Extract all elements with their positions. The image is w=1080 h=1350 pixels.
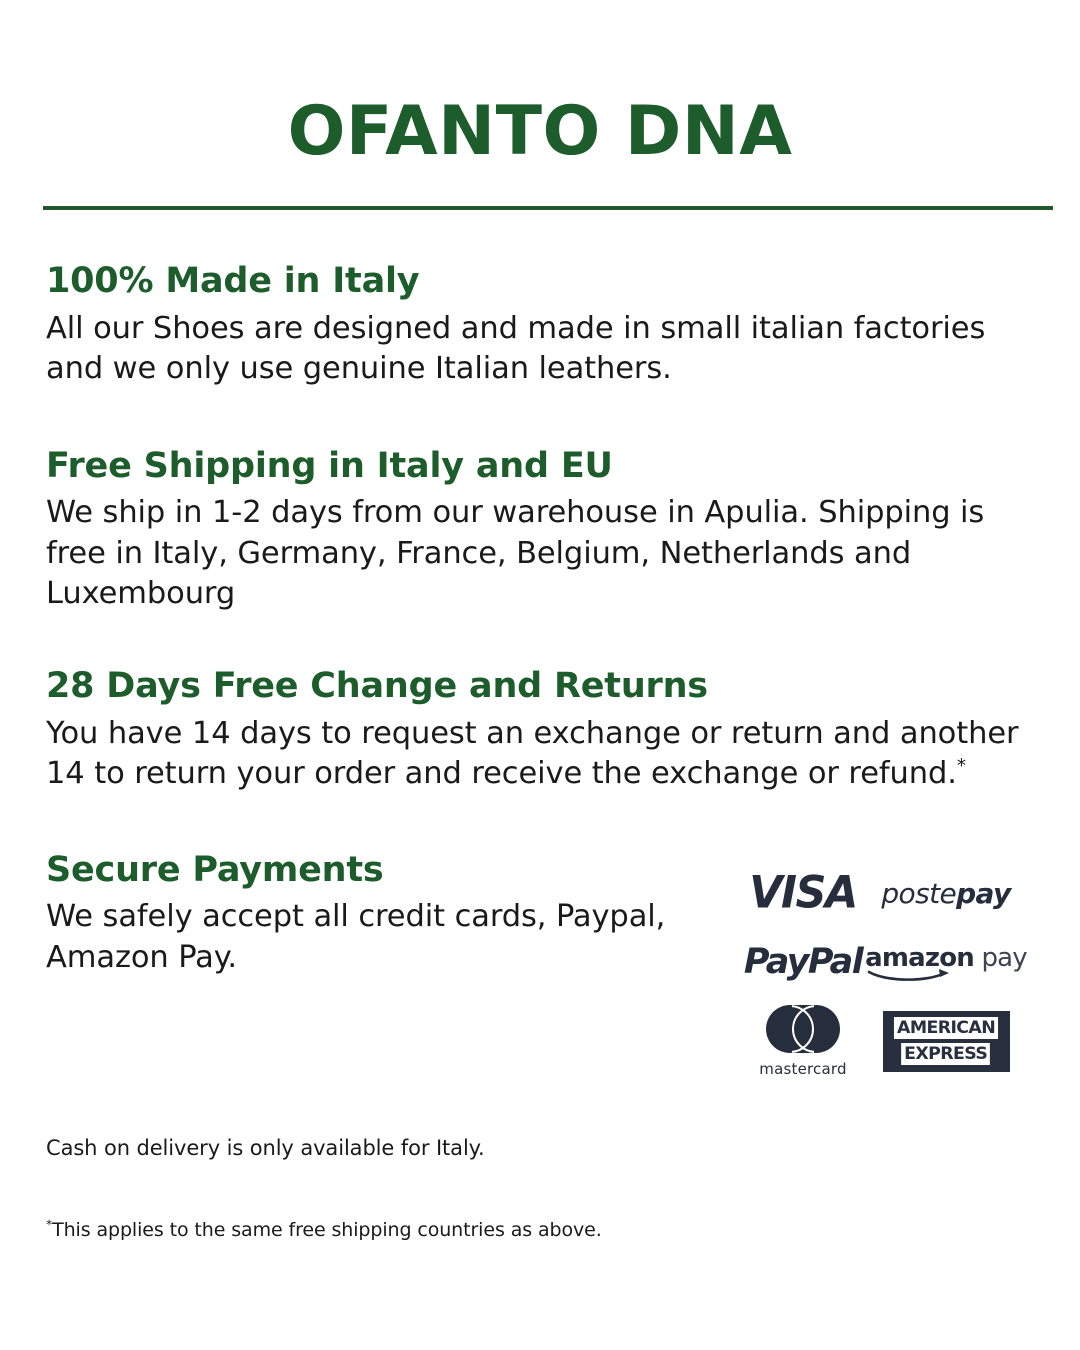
postepay-icon: postepay <box>881 877 1010 910</box>
footnote-wrap: *This applies to the same free shipping … <box>0 1218 1080 1243</box>
footnote: *This applies to the same free shipping … <box>0 1218 1080 1243</box>
mastercard-wordmark: mastercard <box>759 1060 846 1078</box>
mastercard-overlap <box>792 1005 814 1053</box>
section-free-shipping: Free Shipping in Italy and EU We ship in… <box>46 446 1036 614</box>
content-area: 100% Made in Italy All our Shoes are des… <box>0 261 1080 1087</box>
secure-payments-row: Secure Payments We safely accept all cre… <box>46 850 1036 1087</box>
paypal-icon: PayPal <box>744 942 862 982</box>
payment-logo-visa-cell: VISA <box>734 857 872 929</box>
mastercard-circles <box>766 1005 840 1053</box>
section-body-text: You have 14 days to request an exchange … <box>46 716 1018 791</box>
mastercard-icon: mastercard <box>759 1005 846 1078</box>
section-heading-made-in-italy: 100% Made in Italy <box>46 261 1036 302</box>
amex-label-american: AMERICAN <box>894 1017 998 1039</box>
footnote-text: This applies to the same free shipping c… <box>52 1219 602 1241</box>
amazon-pay-icon: amazon pay <box>865 943 1027 982</box>
section-heading-free-change-and-returns: 28 Days Free Change and Returns <box>46 666 1036 707</box>
payment-logo-american-express-cell: AMERICAN EXPRESS <box>872 995 1020 1087</box>
postepay-label-bold: pay <box>956 877 1011 910</box>
payment-logo-postepay-cell: postepay <box>872 857 1020 929</box>
payment-logo-paypal-cell: PayPal <box>734 929 872 995</box>
amazon-smile-arrow-icon <box>867 969 953 981</box>
section-body-made-in-italy: All our Shoes are designed and made in s… <box>46 309 1036 390</box>
cash-on-delivery-note: Cash on delivery is only available for I… <box>0 1135 1080 1162</box>
amex-label-express: EXPRESS <box>901 1043 990 1065</box>
payment-logo-amazon-pay-cell: amazon pay <box>872 929 1020 995</box>
section-body-secure-payments: We safely accept all credit cards, Paypa… <box>46 897 666 978</box>
section-free-change-and-returns: 28 Days Free Change and Returns You have… <box>46 666 1036 794</box>
section-body-free-change-and-returns: You have 14 days to request an exchange … <box>46 714 1036 795</box>
amazon-pay-label-pay: pay <box>974 943 1027 973</box>
title-divider <box>43 206 1053 210</box>
section-made-in-italy: 100% Made in Italy All our Shoes are des… <box>46 261 1036 389</box>
payment-logo-mastercard-cell: mastercard <box>734 995 872 1087</box>
footnote-marker-returns: * <box>957 756 966 777</box>
payment-logos-grid: VISA postepay PayPal amazon pay <box>734 857 1020 1087</box>
american-express-icon: AMERICAN EXPRESS <box>883 1011 1010 1072</box>
title-block: OFANTO DNA <box>0 0 1080 167</box>
visa-icon: VISA <box>749 867 857 919</box>
secure-payments-text: Secure Payments We safely accept all cre… <box>46 850 666 978</box>
page-title: OFANTO DNA <box>0 96 1080 167</box>
section-body-free-shipping: We ship in 1-2 days from our warehouse i… <box>46 493 1036 614</box>
cash-on-delivery-note-wrap: Cash on delivery is only available for I… <box>0 1135 1080 1162</box>
ofanto-dna-infographic: OFANTO DNA 100% Made in Italy All our Sh… <box>0 0 1080 1350</box>
section-heading-secure-payments: Secure Payments <box>46 850 666 891</box>
section-heading-free-shipping: Free Shipping in Italy and EU <box>46 446 1036 487</box>
postepay-label-light: poste <box>881 877 956 910</box>
section-secure-payments: Secure Payments We safely accept all cre… <box>46 850 1036 1087</box>
